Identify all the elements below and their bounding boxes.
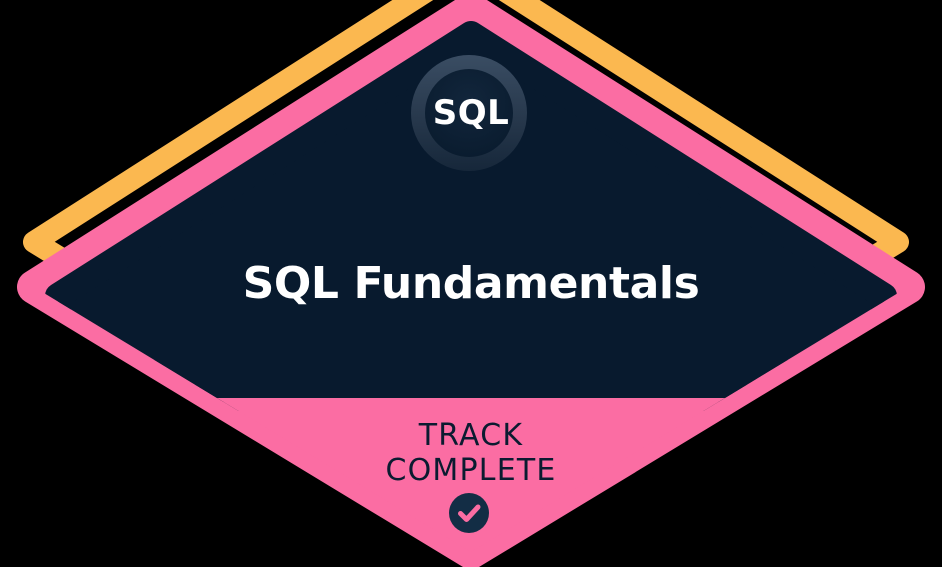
sql-chip-inner (425, 69, 513, 157)
check-badge-circle (449, 493, 489, 533)
badge-shape-graphic (0, 0, 942, 567)
track-completion-badge: SQL SQL Fundamentals TRACK COMPLETE (0, 0, 942, 567)
